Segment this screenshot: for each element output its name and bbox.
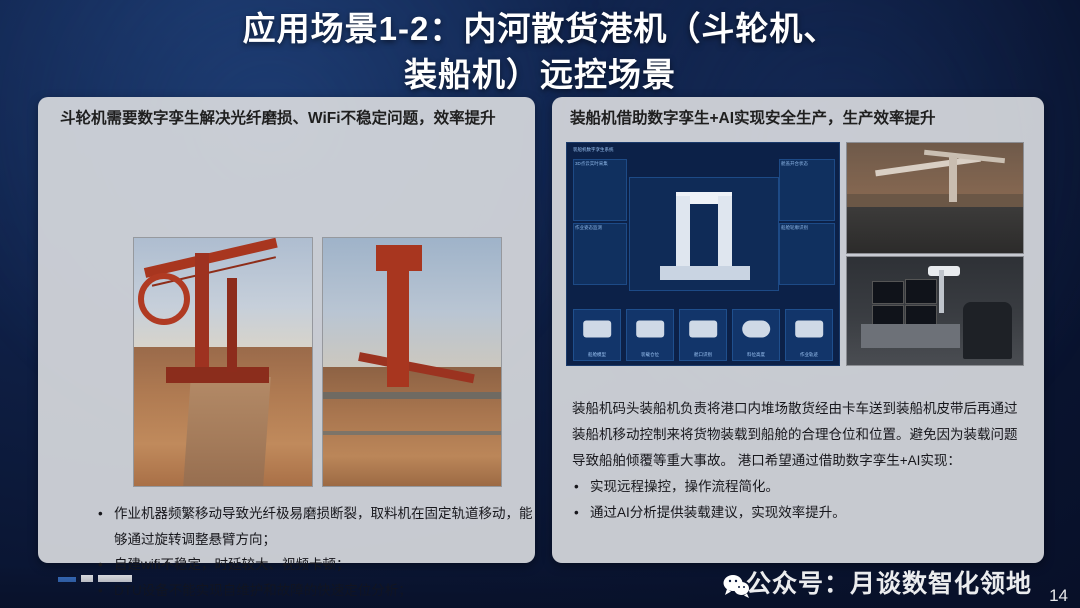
photo-tower <box>195 253 209 367</box>
photo-console-desk <box>861 324 960 348</box>
dashboard-cell: 装载仓位 <box>626 309 674 361</box>
remote-control-room-photo <box>846 256 1024 366</box>
cell-caption: 船舱模型 <box>574 352 620 358</box>
photo-lamp-shade <box>928 266 960 277</box>
dashboard-3d-view <box>629 177 779 291</box>
dashboard-cell: 料位高度 <box>732 309 780 361</box>
cell-shape <box>742 321 770 338</box>
right-paragraph: 装船机码头装船机负责将港口内堆场散货经由卡车送到装船机皮带后再通过装船机移动控制… <box>572 396 1027 474</box>
dashboard-panel-label: 3D点云实时采集 <box>575 161 608 167</box>
cell-shape <box>583 321 611 338</box>
cell-shape <box>689 321 717 338</box>
left-card-heading: 斗轮机需要数字孪生解决光纤磨损、WiFi不稳定问题，效率提升 <box>60 107 521 130</box>
bucket-wheel-reclaimer-photo <box>133 237 313 487</box>
dashboard-cell: 船舱模型 <box>573 309 621 361</box>
photo-monitor <box>872 305 904 326</box>
right-text-block: 装船机码头装船机负责将港口内堆场散货经由卡车送到装船机皮带后再通过装船机移动控制… <box>572 396 1027 526</box>
photo-tower-secondary <box>227 278 237 372</box>
photo-conveyor-belt <box>323 392 501 399</box>
cell-caption: 料位高度 <box>733 352 779 358</box>
dashboard-panel <box>779 223 835 285</box>
list-item: 实现远程操控，操作流程简化。 <box>590 474 1027 500</box>
cell-shape <box>795 321 823 338</box>
left-content-card: 斗轮机需要数字孪生解决光纤磨损、WiFi不稳定问题，效率提升 <box>38 97 535 563</box>
photo-tower <box>387 253 409 387</box>
page-title-line-2: 装船机）远控场景 <box>0 52 1080 98</box>
list-item: 通过AI分析提供装载建议，实现效率提升。 <box>590 500 1027 526</box>
gantry-left-leg <box>676 196 690 268</box>
cell-shape <box>636 321 664 338</box>
photo-rail <box>323 431 501 435</box>
page-title: 应用场景1-2：内河散货港机（斗轮机、 装船机）远控场景 <box>0 6 1080 98</box>
photo-crane-tower <box>949 156 957 202</box>
dashboard-panel-label: 船舱轮廓识别 <box>781 225 808 231</box>
page-number: 14 <box>1049 586 1068 606</box>
ship-loader-photo <box>322 237 502 487</box>
cell-caption: 装载仓位 <box>627 352 673 358</box>
cell-caption: 作业轨迹 <box>786 352 832 358</box>
dashboard-panel <box>573 159 627 221</box>
ship-loader-dock-photo <box>846 142 1024 254</box>
page-title-line-1: 应用场景1-2：内河散货港机（斗轮机、 <box>0 6 1080 52</box>
photo-operator-chair <box>963 302 1012 358</box>
dashboard-cell: 作业轨迹 <box>785 309 833 361</box>
list-item: 作业机器频繁移动导致光纤极易磨损断裂，取料机在固定轨道移动，能够通过旋转调整悬臂… <box>114 501 536 552</box>
watermark-text: 公众号：月谈数智化领地 <box>746 564 1032 600</box>
left-photo-row <box>133 237 502 487</box>
dashboard-panel-label: 舱盖开合状态 <box>781 161 808 167</box>
photo-loader-head <box>376 245 422 271</box>
dashboard-panel-label: 作业姿态监测 <box>575 225 602 231</box>
dashboard-panel <box>573 223 627 285</box>
photo-monitor <box>872 281 904 305</box>
photo-machine-base <box>166 367 269 383</box>
dashboard-cell: 舱口识别 <box>679 309 727 361</box>
photo-monitor <box>905 279 937 305</box>
gantry-base <box>660 266 750 280</box>
photo-water <box>847 207 1023 253</box>
cell-caption: 舱口识别 <box>680 352 726 358</box>
photo-monitor <box>905 305 937 326</box>
photo-road <box>184 377 272 486</box>
right-bullet-list: 实现远程操控，操作流程简化。 通过AI分析提供装载建议，实现效率提升。 <box>572 474 1027 526</box>
photo-ground <box>323 367 501 486</box>
right-card-heading: 装船机借助数字孪生+AI实现安全生产，生产效率提升 <box>570 107 1030 130</box>
dashboard-bottom-strip: 船舱模型 装载仓位 舱口识别 料位高度 作业轨迹 <box>573 309 833 361</box>
dashboard-title: 装船机数字孪生系统 <box>573 147 614 153</box>
gantry-right-leg <box>718 196 732 268</box>
digital-twin-dashboard-screenshot: 装船机数字孪生系统 3D点云实时采集 作业姿态监测 舱盖开合状态 船舱轮廓识别 … <box>566 142 840 366</box>
photo-lamp-pole <box>939 270 944 313</box>
photo-bucket-wheel <box>138 273 190 325</box>
slide-root: 应用场景1-2：内河散货港机（斗轮机、 装船机）远控场景 斗轮机需要数字孪生解决… <box>0 0 1080 608</box>
dashboard-panel <box>779 159 835 221</box>
